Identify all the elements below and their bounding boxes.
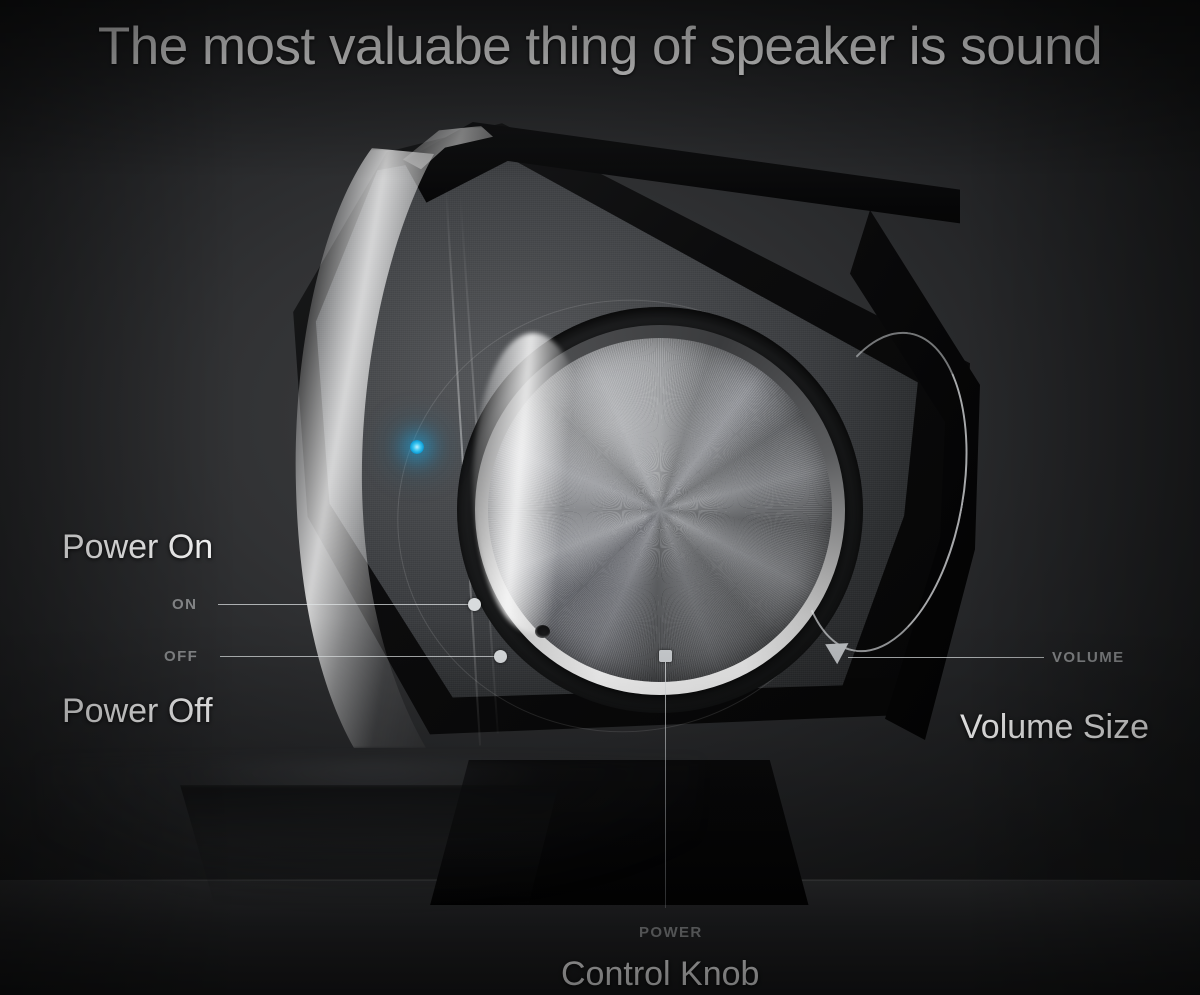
promo-banner: The most valuabe thing of speaker is sou… — [0, 0, 1200, 995]
vignette-overlay — [0, 0, 1200, 995]
